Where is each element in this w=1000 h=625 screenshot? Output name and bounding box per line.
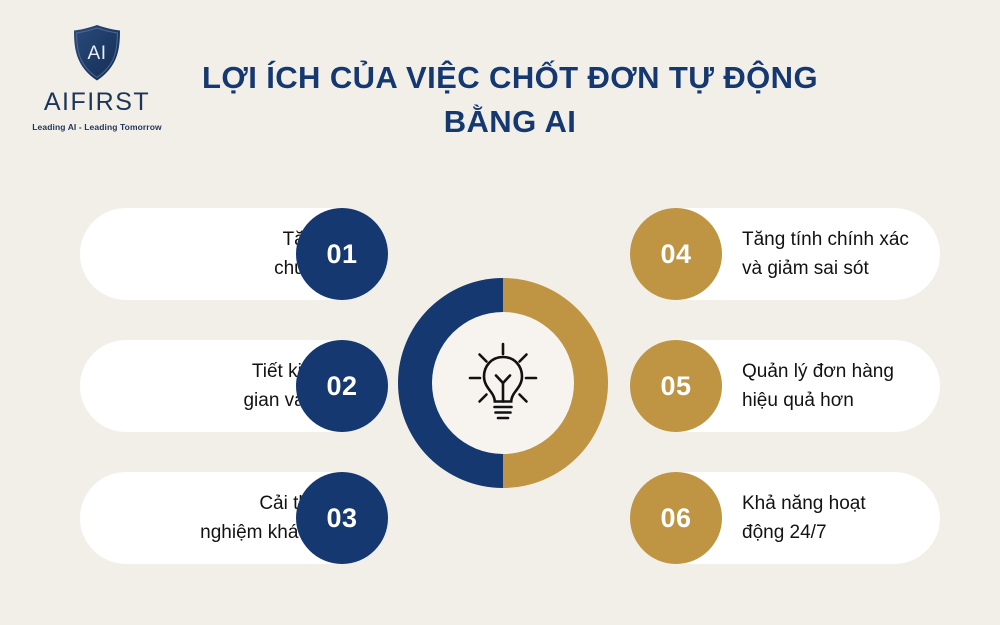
brand-logo: AI AIFIRST Leading AI - Leading Tomorrow (22, 24, 172, 134)
benefit-number-05: 05 (630, 340, 722, 432)
benefit-card-04[interactable]: 04 Tăng tính chính xác và giảm sai sót (630, 208, 940, 300)
benefit-number-03: 03 (296, 472, 388, 564)
benefit-card-01[interactable]: Tăng tỷ lệ chuyển đổi 01 (80, 208, 388, 300)
page-title: LỢI ÍCH CỦA VIỆC CHỐT ĐƠN TỰ ĐỘNG BẰNG A… (200, 56, 820, 144)
lightbulb-icon (464, 342, 542, 424)
benefit-card-03[interactable]: Cải thiện trải nghiệm khách hàng 03 (80, 472, 388, 564)
benefit-number-06: 06 (630, 472, 722, 564)
benefit-number-02: 02 (296, 340, 388, 432)
svg-text:AI: AI (88, 43, 107, 64)
brand-tagline: Leading AI - Leading Tomorrow (32, 122, 161, 132)
infographic-page: AI AIFIRST Leading AI - Leading Tomorrow… (0, 0, 1000, 625)
benefit-card-05[interactable]: 05 Quản lý đơn hàng hiệu quả hơn (630, 340, 940, 432)
benefit-number-04: 04 (630, 208, 722, 300)
center-emblem (398, 278, 608, 488)
benefit-card-06[interactable]: 06 Khả năng hoạt động 24/7 (630, 472, 940, 564)
benefit-number-01: 01 (296, 208, 388, 300)
benefit-card-02[interactable]: Tiết kiệm thời gian và chi phí 02 (80, 340, 388, 432)
shield-ai-logo-icon: AI (71, 24, 123, 82)
brand-name: AIFIRST (44, 88, 150, 117)
